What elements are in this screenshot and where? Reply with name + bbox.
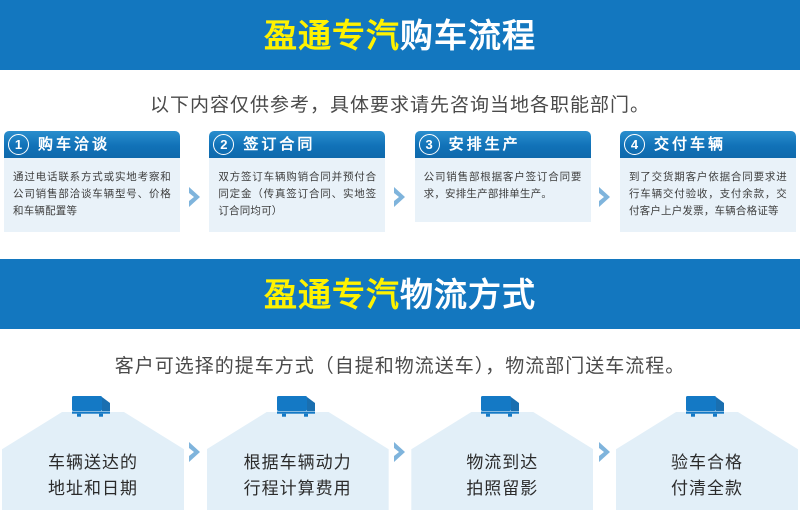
chevron-right-icon	[392, 185, 408, 209]
brand-name: 盈通专汽	[264, 276, 400, 313]
logistics-card: 物流到达 拍照留影	[411, 394, 593, 510]
step-title: 签订合同	[243, 137, 315, 152]
step-card: 3 安排生产 公司销售部根据客户签订合同要求，安排生产部排单生产。	[415, 131, 591, 222]
chevron-right-icon	[392, 440, 408, 464]
logistics-arrow-separator	[392, 394, 408, 510]
logistics-card: 验车合格 付清全款	[616, 394, 798, 510]
chevron-right-icon	[187, 185, 203, 209]
logistics-card-line2: 付清全款	[671, 476, 743, 502]
step-title: 交付车辆	[654, 137, 726, 152]
step-body: 双方签订车辆购销合同并预付合同定金（传真签订合同、实地签订合同均可）	[209, 158, 385, 232]
logistics-cards: 车辆送达的 地址和日期 根据车辆动力 行程计算费用	[0, 386, 800, 510]
step-body: 到了交货期客户依据合同要求进行车辆交付验收，支付余款，交付客户上户发票，车辆合格…	[620, 158, 796, 232]
logistics-card-line2: 行程计算费用	[244, 476, 352, 502]
purchase-headline: 购车流程	[400, 17, 536, 54]
purchase-steps: 1 购车洽谈 通过电话联系方式或实地考察和公司销售部洽谈车辆型号、价格和车辆配置…	[0, 131, 800, 249]
purchase-banner-text: 盈通专汽购车流程	[264, 19, 536, 52]
step-number-badge: 3	[419, 134, 440, 155]
logistics-card-line1: 根据车辆动力	[244, 450, 352, 476]
purchase-banner: 盈通专汽购车流程	[0, 0, 800, 70]
step-header: 4 交付车辆	[620, 131, 796, 158]
logistics-banner: 盈通专汽物流方式	[0, 259, 800, 329]
chevron-right-icon	[187, 440, 203, 464]
step-header: 2 签订合同	[209, 131, 385, 158]
truck-icon	[479, 394, 525, 420]
logistics-card-body: 根据车辆动力 行程计算费用	[207, 412, 389, 510]
logistics-card-body: 车辆送达的 地址和日期	[2, 412, 184, 510]
logistics-caption: 客户可选择的提车方式（自提和物流送车），物流部门送车流程。	[0, 329, 800, 378]
step-card: 1 购车洽谈 通过电话联系方式或实地考察和公司销售部洽谈车辆型号、价格和车辆配置…	[4, 131, 180, 232]
logistics-card: 车辆送达的 地址和日期	[2, 394, 184, 510]
logistics-card: 根据车辆动力 行程计算费用	[207, 394, 389, 510]
step-arrow-separator	[596, 185, 614, 209]
step-title: 安排生产	[449, 137, 521, 152]
logistics-card-line1: 物流到达	[466, 450, 538, 476]
brand-name: 盈通专汽	[264, 17, 400, 54]
truck-icon	[70, 394, 116, 420]
step-body: 公司销售部根据客户签订合同要求，安排生产部排单生产。	[415, 158, 591, 222]
logistics-arrow-separator	[187, 394, 203, 510]
logistics-banner-text: 盈通专汽物流方式	[264, 278, 536, 311]
truck-icon	[275, 394, 321, 420]
logistics-card-line1: 验车合格	[671, 450, 743, 476]
step-arrow-separator	[186, 185, 204, 209]
logistics-card-body: 物流到达 拍照留影	[411, 412, 593, 510]
logistics-arrow-separator	[597, 394, 613, 510]
step-header: 3 安排生产	[415, 131, 591, 158]
logistics-card-line1: 车辆送达的	[48, 450, 138, 476]
step-number-badge: 1	[8, 134, 29, 155]
chevron-right-icon	[597, 185, 613, 209]
step-arrow-separator	[391, 185, 409, 209]
step-number-badge: 2	[213, 134, 234, 155]
step-number-badge: 4	[624, 134, 645, 155]
step-body: 通过电话联系方式或实地考察和公司销售部洽谈车辆型号、价格和车辆配置等	[4, 158, 180, 232]
step-title: 购车洽谈	[38, 137, 110, 152]
truck-icon	[684, 394, 730, 420]
step-header: 1 购车洽谈	[4, 131, 180, 158]
logistics-card-body: 验车合格 付清全款	[616, 412, 798, 510]
logistics-card-line2: 拍照留影	[466, 476, 538, 502]
step-card: 2 签订合同 双方签订车辆购销合同并预付合同定金（传真签订合同、实地签订合同均可…	[209, 131, 385, 232]
chevron-right-icon	[597, 440, 613, 464]
step-card: 4 交付车辆 到了交货期客户依据合同要求进行车辆交付验收，支付余款，交付客户上户…	[620, 131, 796, 232]
logistics-card-line2: 地址和日期	[48, 476, 138, 502]
logistics-headline: 物流方式	[400, 276, 536, 313]
purchase-caption: 以下内容仅供参考，具体要求请先咨询当地各职能部门。	[0, 70, 800, 117]
